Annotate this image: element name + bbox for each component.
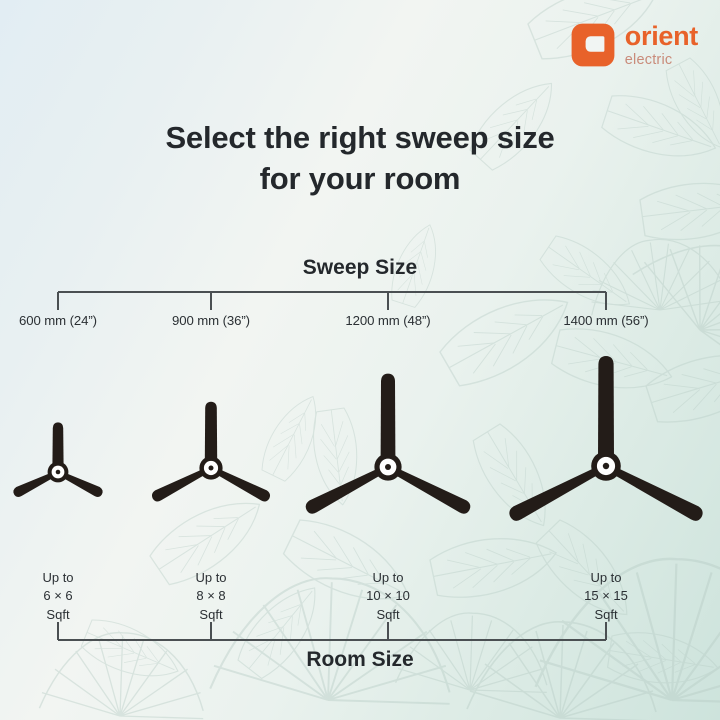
sweep-label-1200: 1200 mm (48”) <box>345 313 430 328</box>
brand-name: orient <box>625 23 698 50</box>
brand-logo[interactable]: orient electric <box>570 22 698 68</box>
room-label-prefix: Up to <box>584 569 628 587</box>
headline-line-1: Select the right sweep size <box>0 118 720 159</box>
room-label-size: 15 × 15 <box>584 587 628 605</box>
room-size-heading: Room Size <box>0 648 720 672</box>
room-label-prefix: Up to <box>366 569 410 587</box>
sweep-label-600: 600 mm (24”) <box>19 313 97 328</box>
orient-q-mark-icon <box>570 22 616 68</box>
room-label-unit: Sqft <box>366 606 410 624</box>
infographic-canvas: orient electric Select the right sweep s… <box>0 0 720 720</box>
brand-wordmark: orient electric <box>625 23 698 68</box>
room-label-size: 6 × 6 <box>42 587 73 605</box>
room-label-prefix: Up to <box>42 569 73 587</box>
brand-tagline: electric <box>625 53 698 68</box>
page-title: Select the right sweep size for your roo… <box>0 118 720 200</box>
room-label-6x6: Up to 6 × 6 Sqft <box>42 569 73 624</box>
room-label-10x10: Up to 10 × 10 Sqft <box>366 569 410 624</box>
sweep-size-bracket <box>0 286 720 312</box>
sweep-size-heading: Sweep Size <box>0 256 720 280</box>
room-label-15x15: Up to 15 × 15 Sqft <box>584 569 628 624</box>
room-label-prefix: Up to <box>195 569 226 587</box>
sweep-label-900: 900 mm (36”) <box>172 313 250 328</box>
room-label-unit: Sqft <box>42 606 73 624</box>
room-label-unit: Sqft <box>195 606 226 624</box>
headline-line-2: for your room <box>0 159 720 200</box>
ceiling-fan-icon-1400 <box>461 321 720 611</box>
room-label-size: 8 × 8 <box>195 587 226 605</box>
room-label-unit: Sqft <box>584 606 628 624</box>
room-label-size: 10 × 10 <box>366 587 410 605</box>
room-label-8x8: Up to 8 × 8 Sqft <box>195 569 226 624</box>
ceiling-fan-icon-600 <box>0 402 128 542</box>
